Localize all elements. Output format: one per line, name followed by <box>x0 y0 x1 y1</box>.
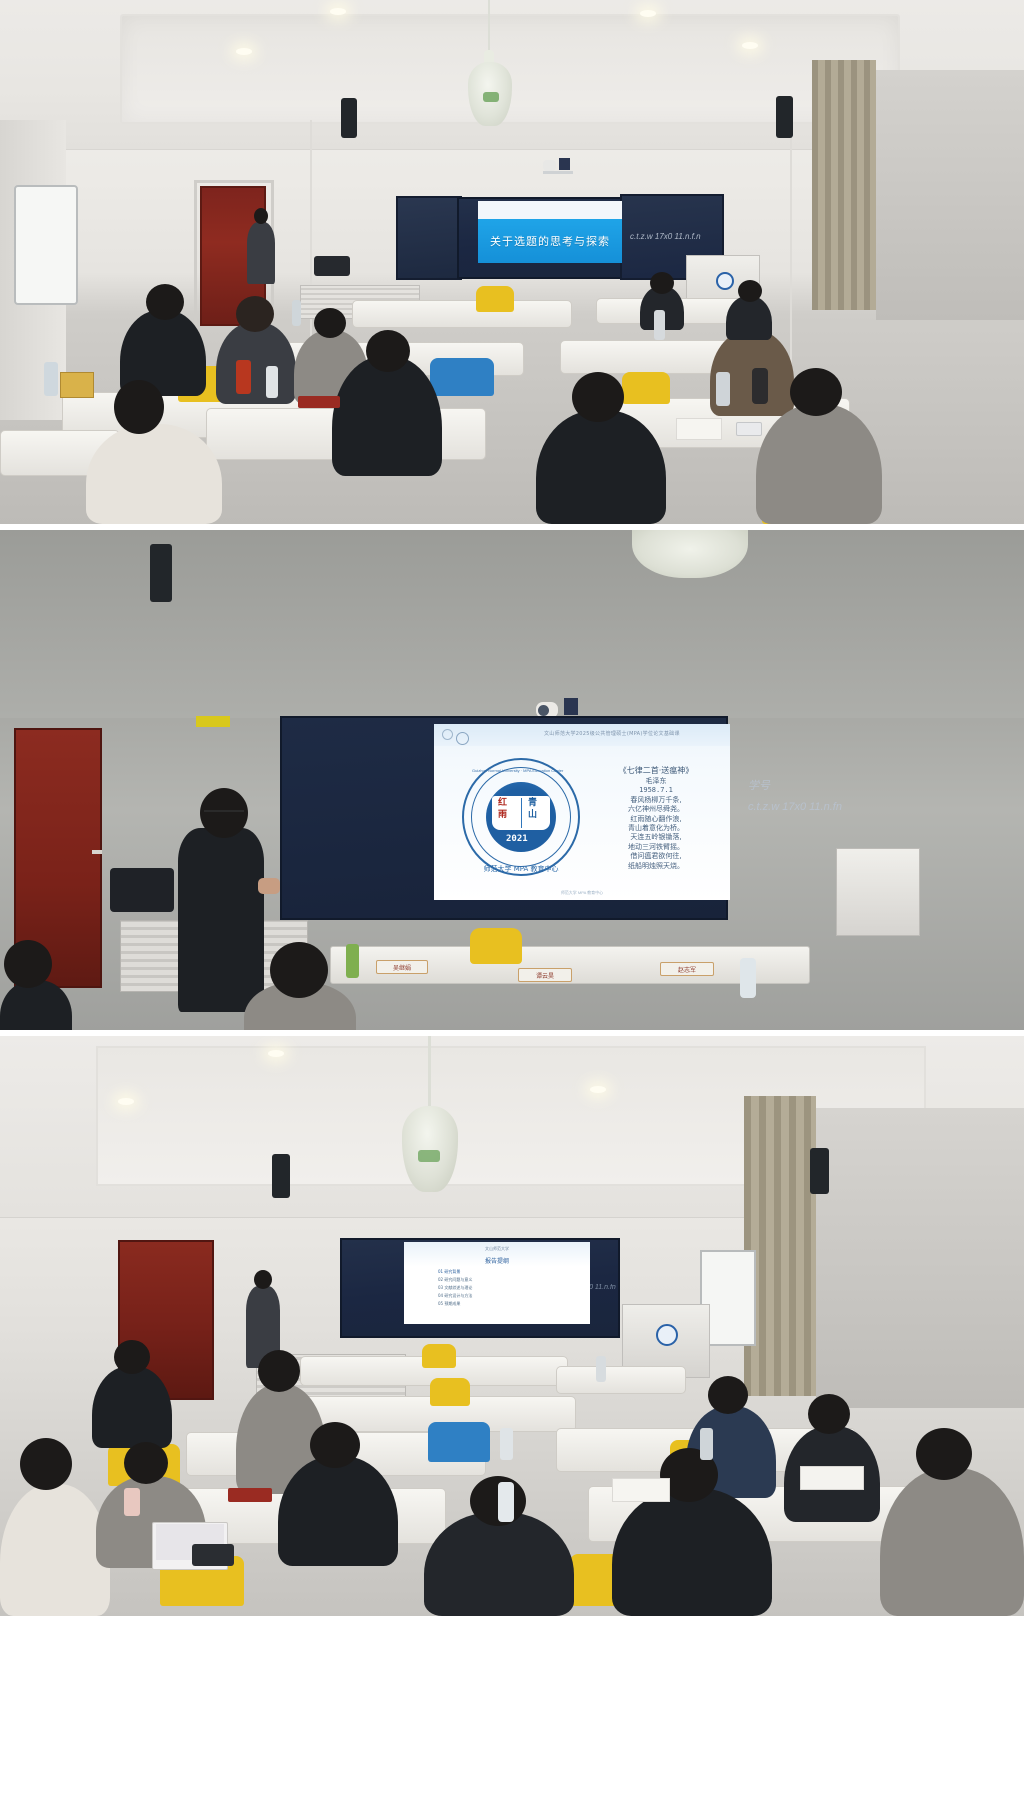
photo-collage: c.t.z.w 17x0 11.n.f.n 关于选题的思考与探索 <box>0 0 1024 1820</box>
water-bottle <box>498 1482 514 1522</box>
person-head <box>146 284 184 320</box>
side-whiteboard <box>14 185 78 305</box>
poem-line: 春风杨柳万千条, <box>586 796 726 805</box>
nameplate: 吴继娟 <box>376 960 428 974</box>
wall-speaker-icon <box>272 1154 290 1198</box>
notebook <box>228 1488 272 1502</box>
slide-bullet: 01 研究背景 <box>438 1269 582 1275</box>
bag-green-contents <box>418 1150 440 1162</box>
person-head <box>916 1428 972 1480</box>
ceiling-light-icon <box>236 48 252 55</box>
classroom-chair[interactable] <box>622 372 670 404</box>
student-desk <box>352 300 572 328</box>
person-head <box>650 272 674 294</box>
slide-top-strip <box>478 201 622 219</box>
seated-attendee <box>332 356 442 476</box>
yellow-chair[interactable] <box>470 928 522 964</box>
person-head <box>314 308 346 338</box>
ceiling-light-icon <box>330 8 346 15</box>
slide-header-text: 文山师范大学 <box>412 1246 582 1252</box>
wall-speaker-icon <box>810 1148 829 1194</box>
water-bottle <box>124 1488 140 1516</box>
seated-attendee <box>880 1468 1024 1616</box>
seated-attendee <box>536 410 666 524</box>
seated-attendee <box>612 1488 772 1616</box>
slide-header-text: 文山师范大学2025级公共管理硕士(MPA)学位论文基础课 <box>544 730 680 737</box>
emblem-chinese-arc: 师范大学 MPA 教育中心 <box>462 864 580 874</box>
wall-seam-1 <box>790 120 792 370</box>
instructor-hand <box>258 878 280 894</box>
hanging-plastic-bag <box>402 1106 458 1192</box>
blackboard-handwriting: c.t.z.w 17x0 11.n.f.n <box>630 232 701 241</box>
standing-instructor <box>247 222 275 284</box>
slide-bullet: 02 研究问题与意义 <box>438 1277 582 1283</box>
ceiling-light-icon <box>118 1098 134 1105</box>
slide-ring-icon <box>442 729 453 740</box>
university-seal-icon <box>716 272 734 290</box>
slide-ring-icon-2 <box>456 732 469 745</box>
photo-panel-3: c.t.z.w 17x0 11.n.fn 文山师范大学 报告提纲 01 研究背景… <box>0 1036 1024 1616</box>
projected-slide-3: 文山师范大学 报告提纲 01 研究背景 02 研究问题与意义 03 文献综述与理… <box>404 1242 590 1324</box>
handwriting-line: c.t.z.w 17x0 11.n.fn <box>748 797 842 818</box>
poem-line: 纸船明烛照天烧。 <box>586 862 726 871</box>
slide-title-text: 报告提纲 <box>412 1256 582 1265</box>
classroom-chair[interactable] <box>422 1344 456 1368</box>
blackboard-handwriting: 学号 c.t.z.w 17x0 11.n.fn <box>748 776 842 818</box>
bag-green-contents <box>483 92 499 102</box>
slide-bullet: 03 文献综述与理论 <box>438 1285 582 1291</box>
person-head <box>4 940 52 988</box>
glasses-icon <box>204 810 244 815</box>
water-bottle <box>266 366 278 398</box>
right-window-wall <box>876 70 1024 320</box>
person-head <box>738 280 762 302</box>
classroom-chair[interactable] <box>476 286 514 312</box>
door-handle-icon[interactable] <box>92 850 102 854</box>
notebook <box>298 396 340 408</box>
board-corner-tag <box>196 716 230 727</box>
ceiling-camera-rig <box>543 158 573 174</box>
paper-sheet <box>612 1478 670 1502</box>
slide-bullet: 05 预期成果 <box>438 1301 582 1307</box>
emblem-english-arc: Guizhou Normal University · MPA Educatio… <box>472 768 570 866</box>
poem-line: 地动三河铁臂摇。 <box>586 843 726 852</box>
poem-author: 毛泽东 <box>586 777 726 786</box>
seated-attendee <box>756 404 882 524</box>
person-head <box>114 1340 150 1374</box>
person-head <box>808 1394 850 1434</box>
seated-attendee <box>216 322 296 404</box>
nameplate-text: 吴继娟 <box>393 963 411 972</box>
ceiling-light-icon <box>590 1086 606 1093</box>
slide-header: 文山师范大学2025级公共管理硕士(MPA)学位论文基础课 <box>434 724 730 746</box>
person-head <box>236 296 274 332</box>
seated-attendee <box>726 296 772 340</box>
poem-line: 天连五岭银锄落, <box>586 833 726 842</box>
water-bottle <box>740 958 756 998</box>
poem-block: 《七律二首·送瘟神》 毛泽东 1958.7.1 春风杨柳万千条, 六亿神州尽舜尧… <box>586 766 726 871</box>
right-window-wall <box>816 1108 1024 1408</box>
person-head <box>114 380 164 434</box>
poem-line: 六亿神州尽舜尧。 <box>586 805 726 814</box>
nameplate-text: 赵志军 <box>678 965 696 974</box>
person-head <box>254 1270 272 1289</box>
nameplate: 谭云昊 <box>518 968 572 982</box>
seated-attendee <box>424 1512 574 1616</box>
seated-attendee <box>86 424 222 524</box>
projected-slide-2: 文山师范大学2025级公共管理硕士(MPA)学位论文基础课 红 雨 青 山 20… <box>434 724 730 900</box>
seated-attendee <box>278 1456 398 1566</box>
slide-title-text: 关于选题的思考与探索 <box>490 233 610 249</box>
person-head <box>258 1350 300 1392</box>
slide-bullet: 04 研究设计与方法 <box>438 1293 582 1299</box>
person-head <box>20 1438 72 1490</box>
person-head <box>366 330 410 372</box>
side-cabinet <box>836 848 920 936</box>
poem-line: 借问瘟君欲何往, <box>586 852 726 861</box>
seated-attendee <box>0 1484 110 1616</box>
water-bottle <box>596 1356 606 1382</box>
wall-speaker-icon <box>150 544 172 602</box>
classroom-chair[interactable] <box>430 1378 470 1406</box>
person-head <box>790 368 842 416</box>
water-bottle <box>44 362 58 396</box>
hanging-cord <box>488 0 490 56</box>
handwriting-line: 学号 <box>748 776 842 797</box>
photo-panel-1: c.t.z.w 17x0 11.n.f.n 关于选题的思考与探索 <box>0 0 1024 524</box>
university-emblem: 红 雨 青 山 2021 Guizhou Normal University ·… <box>462 758 580 876</box>
water-bottle <box>236 360 251 394</box>
poem-line: 红雨随心翻作浪, <box>586 815 726 824</box>
bag-on-desk <box>314 256 350 276</box>
water-bottle <box>700 1428 713 1460</box>
projected-slide-1: 关于选题的思考与探索 <box>478 201 622 263</box>
poem-title: 《七律二首·送瘟神》 <box>586 766 726 777</box>
water-bottle <box>752 368 768 404</box>
ceiling-camera-rig <box>536 698 582 718</box>
person-head <box>572 372 624 422</box>
window-curtain <box>812 60 876 310</box>
slide-title-band: 关于选题的思考与探索 <box>478 219 622 263</box>
nameplate: 赵志军 <box>660 962 714 976</box>
poem-line: 青山着意化为桥。 <box>586 824 726 833</box>
student-desk <box>556 1366 686 1394</box>
ceiling-light-icon <box>742 42 758 49</box>
instructor-bag-on-ledge <box>110 868 174 912</box>
notebook <box>60 372 94 398</box>
person-head <box>124 1442 168 1484</box>
standing-instructor <box>178 828 264 1012</box>
paper-sheet <box>676 418 722 440</box>
seated-attendee <box>92 1366 172 1448</box>
phone[interactable] <box>736 422 762 436</box>
person-head <box>270 942 328 998</box>
hanging-cord <box>428 1036 431 1114</box>
poem-date: 1958.7.1 <box>586 786 726 795</box>
water-bottle <box>654 310 665 340</box>
water-bottle <box>716 372 730 406</box>
person-head <box>310 1422 360 1468</box>
ceiling-light-icon <box>268 1050 284 1057</box>
wall-speaker-icon <box>341 98 357 138</box>
slide-footer-text: 师范大学 MPA 教育中心 <box>434 890 730 896</box>
wall-seam-1 <box>310 120 312 370</box>
bag-on-desk <box>192 1544 234 1566</box>
water-bottle <box>292 300 301 326</box>
blackboard-left <box>396 196 462 280</box>
university-seal-icon <box>656 1324 678 1346</box>
ceiling-light-icon <box>640 10 656 17</box>
classroom-chair[interactable] <box>430 358 494 396</box>
thermos-bottle <box>346 944 359 978</box>
wall-speaker-icon <box>776 96 793 138</box>
paper-sheet <box>800 1466 864 1490</box>
window-curtain <box>744 1096 816 1396</box>
nameplate-text: 谭云昊 <box>536 971 554 980</box>
person-head <box>708 1376 748 1414</box>
water-bottle <box>500 1428 513 1460</box>
classroom-chair[interactable] <box>428 1422 490 1462</box>
person-head <box>254 208 268 224</box>
photo-panel-2: 学号 c.t.z.w 17x0 11.n.fn 文山师范大学2025级公共管理硕… <box>0 530 1024 1030</box>
